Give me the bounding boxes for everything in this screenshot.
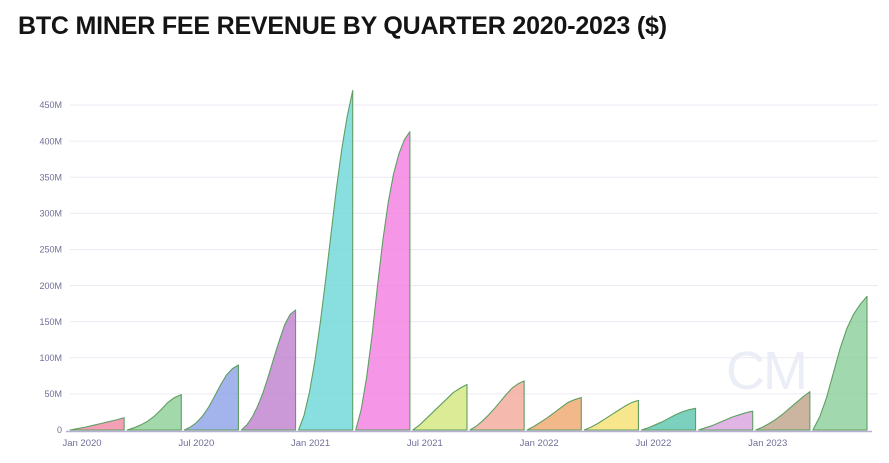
y-axis-tick-label: 250M: [39, 245, 62, 255]
y-axis-tick-label: 450M: [39, 100, 62, 110]
area-series-q2-2021: [356, 132, 410, 430]
area-series-q3-2020: [184, 365, 238, 430]
x-axis-labels: Jan 2020Jul 2020Jan 2021Jul 2021Jan 2022…: [62, 438, 787, 449]
area-series-q2-2020: [127, 395, 181, 430]
y-axis-tick-label: 300M: [39, 209, 62, 219]
chart-container: BTC MINER FEE REVENUE BY QUARTER 2020-20…: [0, 0, 889, 463]
area-series-q4-2021: [470, 381, 524, 430]
x-axis-tick-label: Jan 2023: [748, 438, 787, 449]
y-axis-tick-label: 0: [57, 425, 62, 435]
area-series-q2-2022: [584, 400, 638, 430]
y-axis-tick-label: 50M: [44, 389, 62, 399]
area-series-q2-2023: [813, 296, 867, 430]
area-series-q1-2020: [70, 418, 124, 430]
y-axis-tick-label: 100M: [39, 353, 62, 363]
y-axis-tick-label: 350M: [39, 172, 62, 182]
x-axis-tick-label: Jan 2022: [520, 438, 559, 449]
gridlines-group: [70, 105, 878, 394]
plot-area: 050M100M150M200M250M300M350M400M450M Jan…: [0, 0, 889, 463]
area-series-q3-2021: [413, 385, 467, 431]
x-axis-tick-label: Jan 2021: [291, 438, 330, 449]
y-axis-labels: 050M100M150M200M250M300M350M400M450M: [39, 100, 62, 435]
area-series-q1-2023: [756, 392, 810, 430]
area-series-q4-2022: [699, 411, 753, 430]
y-axis-tick-label: 150M: [39, 317, 62, 327]
x-axis-tick-label: Jan 2020: [62, 438, 101, 449]
area-series-q4-2020: [241, 310, 295, 430]
x-axis-tick-label: Jul 2022: [635, 438, 671, 449]
area-series-q1-2022: [527, 398, 581, 431]
x-axis-tick-label: Jul 2021: [407, 438, 443, 449]
area-chart-svg: 050M100M150M200M250M300M350M400M450M Jan…: [0, 0, 889, 463]
area-series-q3-2022: [641, 408, 695, 430]
y-axis-tick-label: 400M: [39, 136, 62, 146]
y-axis-tick-label: 200M: [39, 281, 62, 291]
x-axis-tick-label: Jul 2020: [178, 438, 214, 449]
